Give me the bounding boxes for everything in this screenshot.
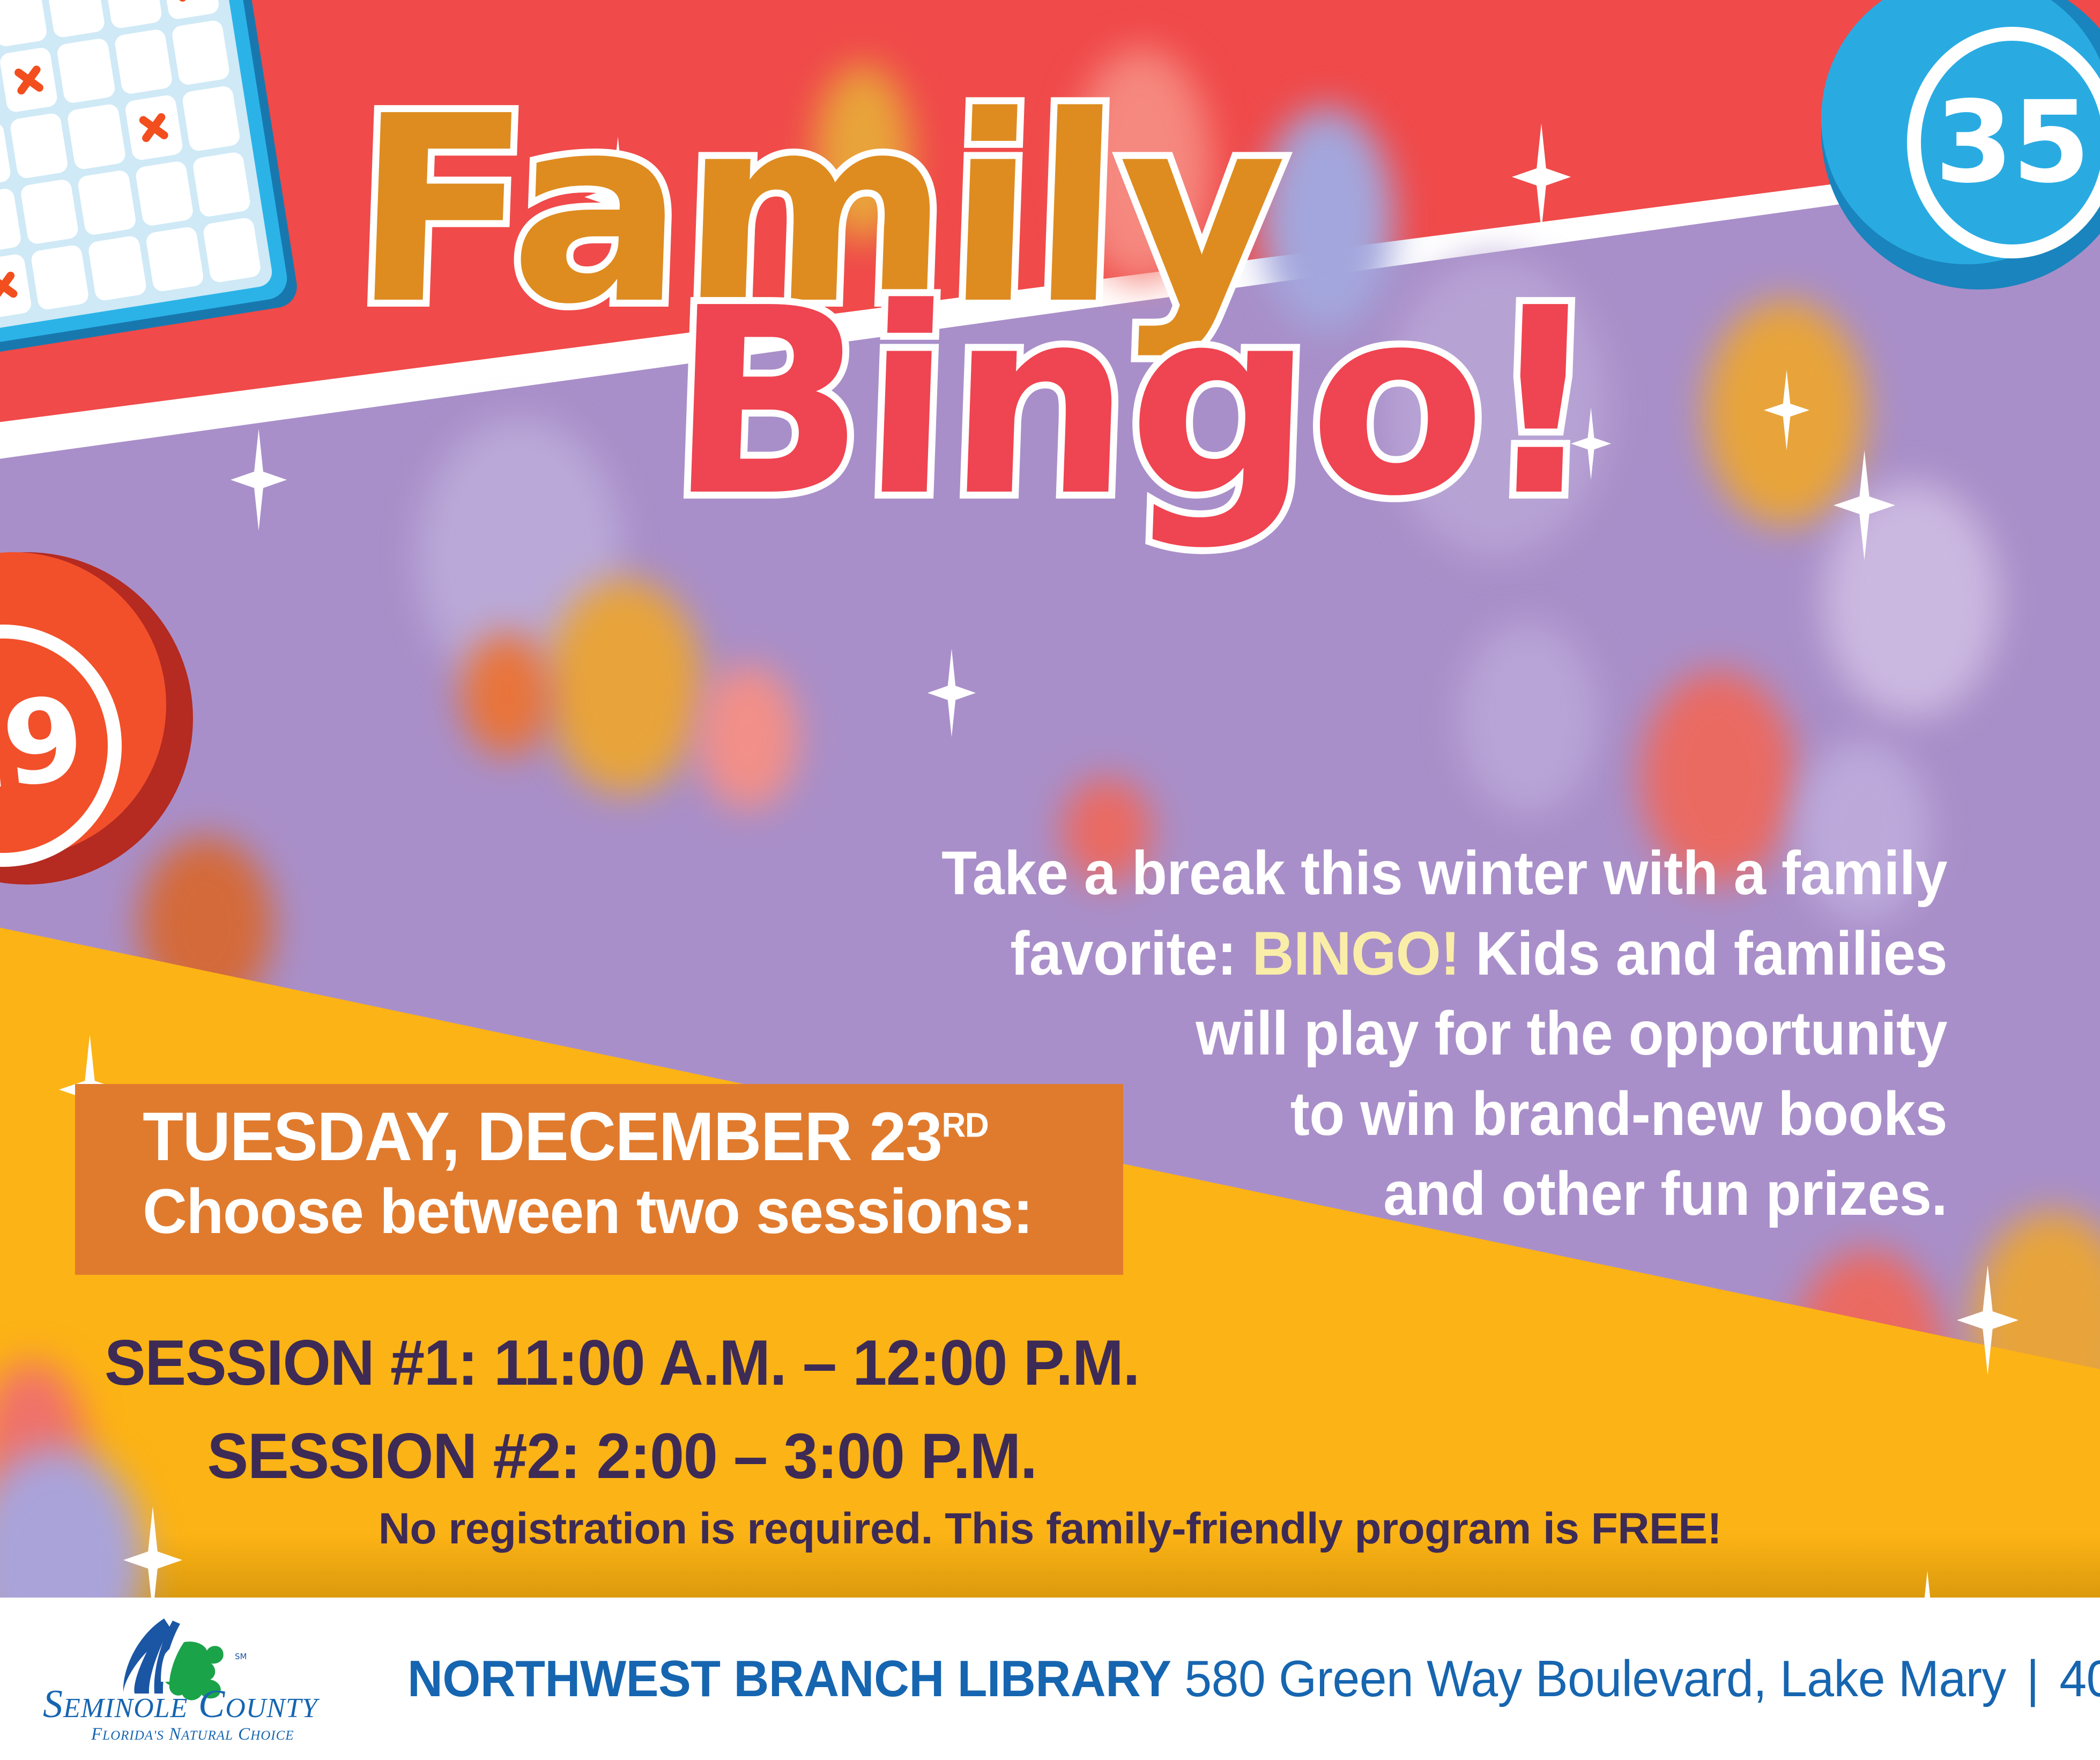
bingo-cell [9, 113, 69, 180]
sessions-subtitle: Choose between two sessions: [75, 1172, 1092, 1252]
bingo-card-illustration [0, 0, 290, 348]
sessions-list: SESSION #1: 11:00 A.M. – 12:00 P.M. SESS… [0, 1316, 1244, 1503]
ball-number: 19 [0, 680, 88, 812]
description-highlight: BINGO! [1252, 919, 1460, 988]
bingo-cell [191, 151, 251, 218]
bingo-cell [56, 38, 116, 105]
bingo-cell [145, 226, 204, 293]
bingo-cell [0, 187, 22, 254]
library-phone: 407-665-1640 [2059, 1650, 2100, 1707]
library-name: NORTHWEST BRANCH LIBRARY [407, 1650, 1171, 1707]
registration-note: No registration is required. This family… [0, 1504, 2100, 1554]
footer-separator: | [2020, 1650, 2046, 1707]
poster-canvas: 35 19 Family Bingo! Take a break this wi… [0, 0, 2100, 1760]
bingo-cell-marked [124, 94, 183, 161]
bingo-cell [77, 169, 137, 236]
bingo-cell [135, 160, 194, 227]
logo-tagline: FLORIDA'S NATURAL CHOICE [91, 1725, 294, 1744]
bingo-card-grid [0, 0, 274, 332]
bingo-cell [103, 0, 162, 29]
library-address: 580 Green Way Boulevard, Lake Mary [1184, 1650, 2006, 1707]
event-date-ordinal: RD [942, 1105, 989, 1144]
description-line: will play for the opportunity [904, 994, 1947, 1074]
bingo-cell [171, 19, 231, 86]
session-item: SESSION #1: 11:00 A.M. – 12:00 P.M. [25, 1316, 1219, 1409]
poster-title: Family Bingo! [322, 105, 1876, 510]
bingo-cell [46, 0, 105, 39]
bingo-cell-marked [0, 253, 33, 320]
bingo-cell [30, 244, 90, 311]
event-date-text: TUESDAY, DECEMBER 23 [143, 1098, 941, 1175]
footer-location-info: NORTHWEST BRANCH LIBRARY 580 Green Way B… [407, 1650, 2100, 1709]
date-banner: TUESDAY, DECEMBER 23RD Choose between tw… [75, 1084, 1123, 1275]
bingo-cell [181, 85, 241, 152]
ball-number: 35 [1935, 86, 2089, 199]
bingo-cell [0, 121, 12, 188]
bingo-cell [0, 0, 48, 48]
title-line-bingo: Bingo! [666, 296, 1880, 510]
bingo-cell [202, 217, 262, 284]
event-date: TUESDAY, DECEMBER 23RD [75, 1102, 1092, 1172]
description-line: favorite: BINGO! Kids and families [904, 914, 1947, 994]
bingo-cell [114, 28, 173, 95]
seminole-county-logo: SM SEMINOLE COUNTY FLORIDA'S NATURAL CHO… [32, 1612, 418, 1746]
logo-service-mark: SM [235, 1652, 247, 1661]
bingo-cell [66, 103, 126, 170]
description-line: Take a break this winter with a family [904, 834, 1947, 914]
bingo-cell [20, 178, 79, 245]
bingo-cell-marked [0, 47, 58, 114]
bingo-cell [87, 235, 147, 302]
session-item: SESSION #2: 2:00 – 3:00 P.M. [25, 1409, 1219, 1503]
bingo-cell-marked [160, 0, 220, 20]
footer-bar: SM SEMINOLE COUNTY FLORIDA'S NATURAL CHO… [0, 1598, 2100, 1760]
